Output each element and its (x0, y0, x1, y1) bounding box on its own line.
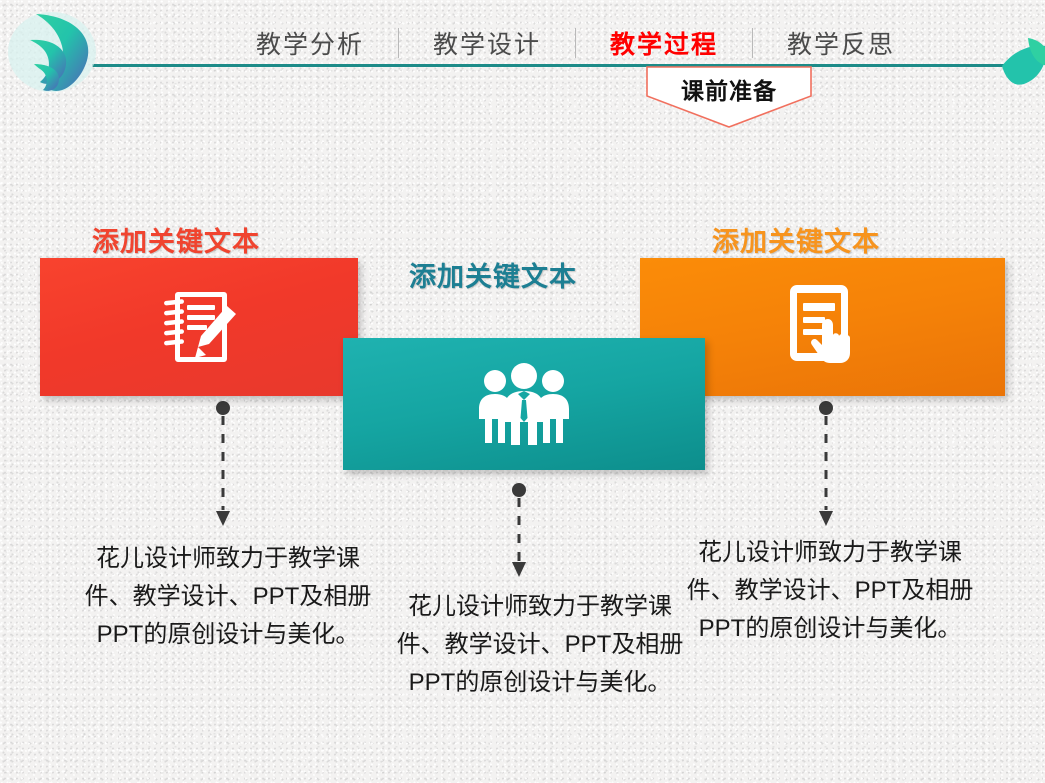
slide-header: 教学分析 教学设计 教学过程 教学反思 课前准备 (0, 0, 1045, 130)
panel-heading-red: 添加关键文本 (92, 220, 260, 259)
nav-separator (752, 28, 753, 58)
slide-canvas: 教学分析 教学设计 教学过程 教学反思 课前准备 添加关键文本 添加关键文本 添… (0, 0, 1045, 783)
panel-heading-teal: 添加关键文本 (409, 255, 577, 294)
leaf-accent-icon (1000, 36, 1045, 92)
section-banner-label: 课前准备 (646, 72, 812, 106)
header-nav[interactable]: 教学分析 教学设计 教学过程 教学反思 (250, 20, 1020, 66)
notepad-pencil-icon (40, 258, 358, 396)
leaf-logo-icon (8, 2, 118, 106)
panel-body-red: 花儿设计师致力于教学课件、教学设计、PPT及相册PPT的原创设计与美化。 (78, 540, 378, 654)
connector-arrow-right (815, 400, 837, 535)
nav-item-2-active[interactable]: 教学过程 (604, 25, 724, 61)
panel-heading-orange: 添加关键文本 (712, 220, 880, 259)
people-group-icon (343, 338, 705, 470)
panel-body-orange: 花儿设计师致力于教学课件、教学设计、PPT及相册PPT的原创设计与美化。 (680, 534, 980, 648)
panel-body-teal: 花儿设计师致力于教学课件、教学设计、PPT及相册PPT的原创设计与美化。 (390, 588, 690, 702)
section-banner: 课前准备 (646, 66, 812, 128)
nav-separator (575, 28, 576, 58)
nav-separator (398, 28, 399, 58)
nav-item-1[interactable]: 教学设计 (427, 25, 547, 61)
panel-card-red[interactable] (40, 258, 358, 396)
nav-item-0[interactable]: 教学分析 (250, 25, 370, 61)
nav-item-3[interactable]: 教学反思 (781, 25, 901, 61)
connector-arrow-left (212, 400, 234, 535)
connector-arrow-middle (508, 482, 530, 585)
panel-card-teal[interactable] (343, 338, 705, 470)
